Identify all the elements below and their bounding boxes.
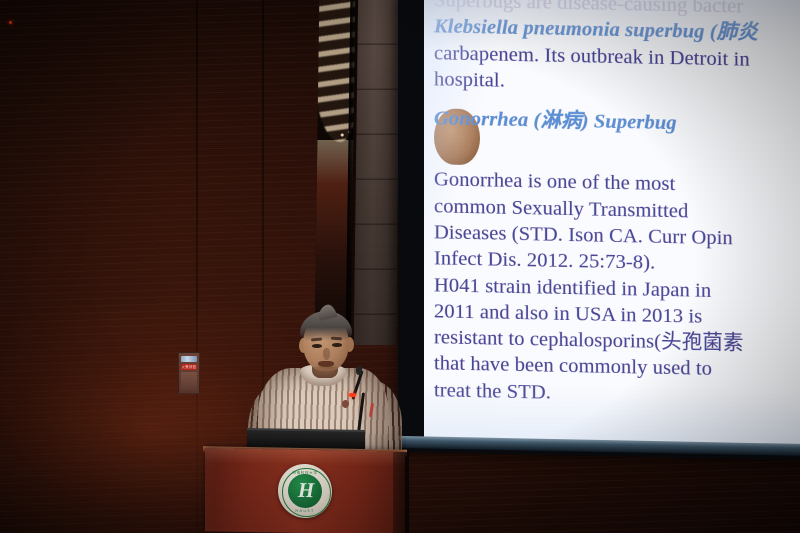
slide-line: common Sexually Transmitted xyxy=(434,196,800,225)
university-emblem: 河南科技大学 H HAUST xyxy=(278,464,332,519)
microphone-led-icon xyxy=(349,393,356,397)
slide-content: Superbugs are disease-causing bacter Kle… xyxy=(434,0,800,414)
slide-line: 2011 and also in USA in 2013 is xyxy=(434,301,800,330)
slide-line: Infect Dis. 2012. 25:73-8). xyxy=(434,249,800,278)
slide-line: Diseases (STD. Ison CA. Curr Opin xyxy=(434,222,800,251)
panel-body xyxy=(181,372,197,390)
speaker-eye-right xyxy=(332,343,342,347)
panel-warning-label: 火警按钮 xyxy=(181,364,197,370)
panel-indicator-strip xyxy=(181,356,197,362)
slide-line: carbapenem. Its outbreak in Detroit in xyxy=(434,43,800,72)
slide-line: that have been commonly used to xyxy=(434,354,800,383)
microphone-capsule-icon xyxy=(356,366,362,375)
speaker-shirt-button xyxy=(342,400,349,408)
lectern-right-face xyxy=(393,452,409,533)
slide-line: H041 strain identified in Japan in xyxy=(434,275,800,304)
slide-line: treat the STD. xyxy=(434,380,800,409)
slide-line: resistant to cephalosporins(头孢菌素 xyxy=(434,327,800,356)
speaker-eye-left xyxy=(312,344,322,348)
panel-warning-text: 火警按钮 xyxy=(181,364,197,370)
slide-line: Gonorrhea (淋病) Superbug xyxy=(434,109,480,166)
projection-screen: Superbugs are disease-causing bacter Kle… xyxy=(424,0,800,452)
slide-line: Gonorrhea is one of the most xyxy=(434,170,800,199)
slide-line: hospital. xyxy=(434,69,800,98)
panel-led-icon xyxy=(9,21,12,24)
speaker-chin-shadow xyxy=(309,366,343,374)
presentation-photo: 火警按钮 Superbugs are disease-causing bacte… xyxy=(0,0,800,533)
slide-line: Klebsiella pneumonia superbug (肺炎 xyxy=(434,17,800,46)
wall-pillar-shading xyxy=(354,0,400,345)
emblem-monogram: H xyxy=(290,476,320,505)
fire-alarm-panel[interactable]: 火警按钮 xyxy=(178,352,200,394)
speaker-nose xyxy=(323,348,330,360)
